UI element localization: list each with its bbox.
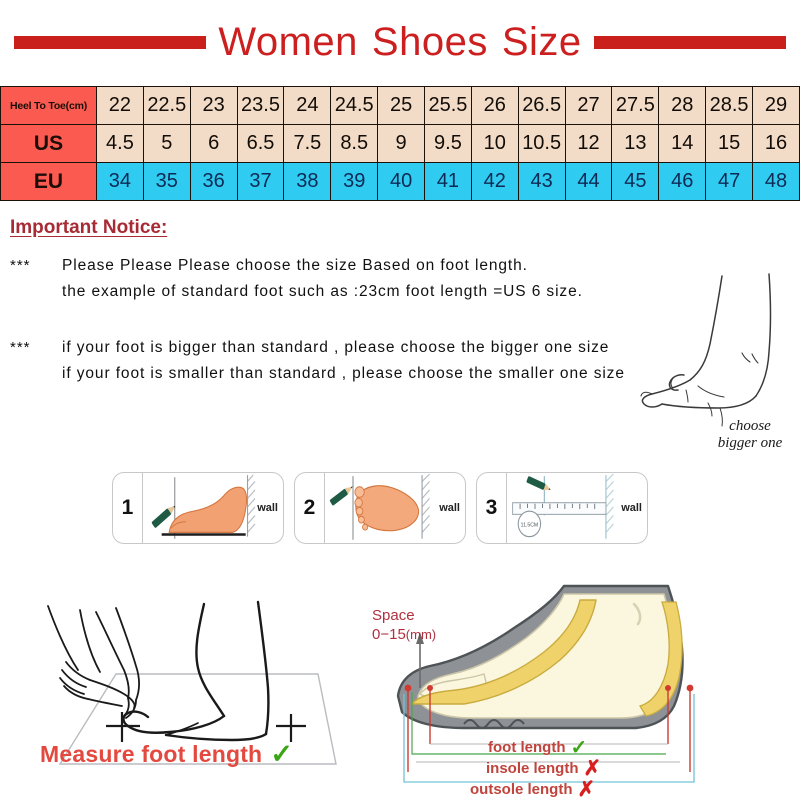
- label-foot-length-text: foot length: [488, 738, 565, 758]
- cell-us-1: 5: [143, 125, 190, 163]
- cross-icon-insole-length: ✗: [584, 758, 602, 779]
- label-insole-length-text: insole length: [486, 759, 579, 779]
- page-title-word-2: Shoes: [372, 20, 488, 64]
- measurement-steps: 1: [112, 472, 648, 544]
- page-title-word-3: Size: [502, 20, 582, 64]
- bullet-stars-icon: ***: [10, 253, 62, 279]
- cell-eu-13: 47: [706, 163, 753, 201]
- label-outsole-length: outsole length ✗: [470, 779, 770, 800]
- choose-bigger-one-caption: choose bigger one: [695, 418, 800, 452]
- cell-us-6: 9: [378, 125, 425, 163]
- table-row-eu: EU 34 35 36 37 38 39 40 41 42 43 44 45 4…: [1, 163, 800, 201]
- step-panel-1: 1: [112, 472, 284, 544]
- cross-icon-outsole-length: ✗: [578, 779, 596, 800]
- cell-us-10: 12: [565, 125, 612, 163]
- cell-us-0: 4.5: [97, 125, 144, 163]
- choose-bigger-line-1: choose: [695, 418, 800, 435]
- cell-us-12: 14: [659, 125, 706, 163]
- cell-us-9: 10.5: [518, 125, 565, 163]
- title-bar-right: [594, 36, 786, 49]
- cell-eu-0: 34: [97, 163, 144, 201]
- notice-text-2: the example of standard foot such as :23…: [62, 279, 583, 305]
- svg-text:11.5CM: 11.5CM: [521, 522, 539, 528]
- wall-label-1: wall: [257, 502, 278, 514]
- cell-eu-3: 37: [237, 163, 284, 201]
- step-number-3: 3: [477, 473, 507, 543]
- size-chart-table-wrap: Heel To Toe(cm) 22 22.5 23 23.5 24 24.5 …: [0, 78, 800, 201]
- cell-cm-13: 28.5: [706, 87, 753, 125]
- cell-us-5: 8.5: [331, 125, 378, 163]
- cell-cm-10: 27: [565, 87, 612, 125]
- check-icon-foot-length: ✓: [570, 738, 587, 758]
- cell-cm-6: 25: [378, 87, 425, 125]
- cell-eu-10: 44: [565, 163, 612, 201]
- cell-us-7: 9.5: [425, 125, 472, 163]
- cell-eu-1: 35: [143, 163, 190, 201]
- cell-cm-4: 24: [284, 87, 331, 125]
- table-row-heel-to-toe: Heel To Toe(cm) 22 22.5 23 23.5 24 24.5 …: [1, 87, 800, 125]
- space-label-line-1: Space: [372, 606, 436, 625]
- label-foot-length: foot length ✓: [470, 738, 770, 758]
- space-unit: (mm): [406, 627, 436, 642]
- page-title: WomenShoesSize: [206, 20, 593, 65]
- cell-us-8: 10: [471, 125, 518, 163]
- cell-cm-11: 27.5: [612, 87, 659, 125]
- measure-foot-length-caption: Measure foot length ✓: [40, 741, 293, 768]
- row-label-us: US: [1, 125, 97, 163]
- cell-cm-7: 25.5: [425, 87, 472, 125]
- page-title-row: WomenShoesSize: [0, 0, 800, 78]
- step-panel-3: 3: [476, 472, 648, 544]
- cell-eu-9: 43: [518, 163, 565, 201]
- step-art-3: 11.5CM wall: [507, 473, 647, 543]
- step-number-1: 1: [113, 473, 143, 543]
- size-chart-table: Heel To Toe(cm) 22 22.5 23 23.5 24 24.5 …: [0, 86, 800, 201]
- cell-eu-4: 38: [284, 163, 331, 201]
- cell-us-11: 13: [612, 125, 659, 163]
- cell-eu-14: 48: [753, 163, 800, 201]
- measure-caption-text: Measure foot length: [40, 741, 262, 768]
- cell-eu-8: 42: [471, 163, 518, 201]
- cell-cm-0: 22: [97, 87, 144, 125]
- cell-eu-2: 36: [190, 163, 237, 201]
- length-measurement-labels: foot length ✓ insole length ✗ outsole le…: [470, 738, 770, 800]
- page-title-word-1: Women: [218, 20, 358, 64]
- cell-cm-1: 22.5: [143, 87, 190, 125]
- step-panel-2: 2: [294, 472, 466, 544]
- space-range: 0−15: [372, 626, 406, 643]
- label-outsole-length-text: outsole length: [470, 780, 573, 800]
- space-label-line-2: 0−15(mm): [372, 625, 436, 644]
- cell-us-13: 15: [706, 125, 753, 163]
- cell-cm-8: 26: [471, 87, 518, 125]
- check-icon: ✓: [270, 741, 293, 768]
- cell-cm-2: 23: [190, 87, 237, 125]
- cell-cm-14: 29: [753, 87, 800, 125]
- label-insole-length: insole length ✗: [470, 758, 770, 779]
- cell-cm-3: 23.5: [237, 87, 284, 125]
- cell-eu-5: 39: [331, 163, 378, 201]
- notice-text-3: if your foot is bigger than standard , p…: [62, 335, 609, 361]
- notice-text-1: Please Please Please choose the size Bas…: [62, 253, 528, 279]
- choose-bigger-line-2: bigger one: [695, 435, 800, 452]
- cell-eu-7: 41: [425, 163, 472, 201]
- step-art-2: wall: [325, 473, 465, 543]
- table-row-us: US 4.5 5 6 6.5 7.5 8.5 9 9.5 10 10.5 12 …: [1, 125, 800, 163]
- cell-eu-12: 46: [659, 163, 706, 201]
- row-label-eu: EU: [1, 163, 97, 201]
- cell-us-2: 6: [190, 125, 237, 163]
- space-label: Space 0−15(mm): [372, 606, 436, 644]
- step-art-1: wall: [143, 473, 283, 543]
- cell-eu-11: 45: [612, 163, 659, 201]
- cell-us-14: 16: [753, 125, 800, 163]
- notice-title: Important Notice:: [10, 217, 167, 239]
- wall-label-3: wall: [621, 502, 642, 514]
- title-bar-left: [14, 36, 206, 49]
- bullet-stars-icon-2: ***: [10, 335, 62, 361]
- wall-label-2: wall: [439, 502, 460, 514]
- cell-us-4: 7.5: [284, 125, 331, 163]
- step-number-2: 2: [295, 473, 325, 543]
- cell-eu-6: 40: [378, 163, 425, 201]
- notice-text-4: if your foot is smaller than standard , …: [62, 361, 625, 387]
- row-label-heel-to-toe: Heel To Toe(cm): [1, 87, 97, 125]
- cell-us-3: 6.5: [237, 125, 284, 163]
- cell-cm-5: 24.5: [331, 87, 378, 125]
- cell-cm-9: 26.5: [518, 87, 565, 125]
- cell-cm-12: 28: [659, 87, 706, 125]
